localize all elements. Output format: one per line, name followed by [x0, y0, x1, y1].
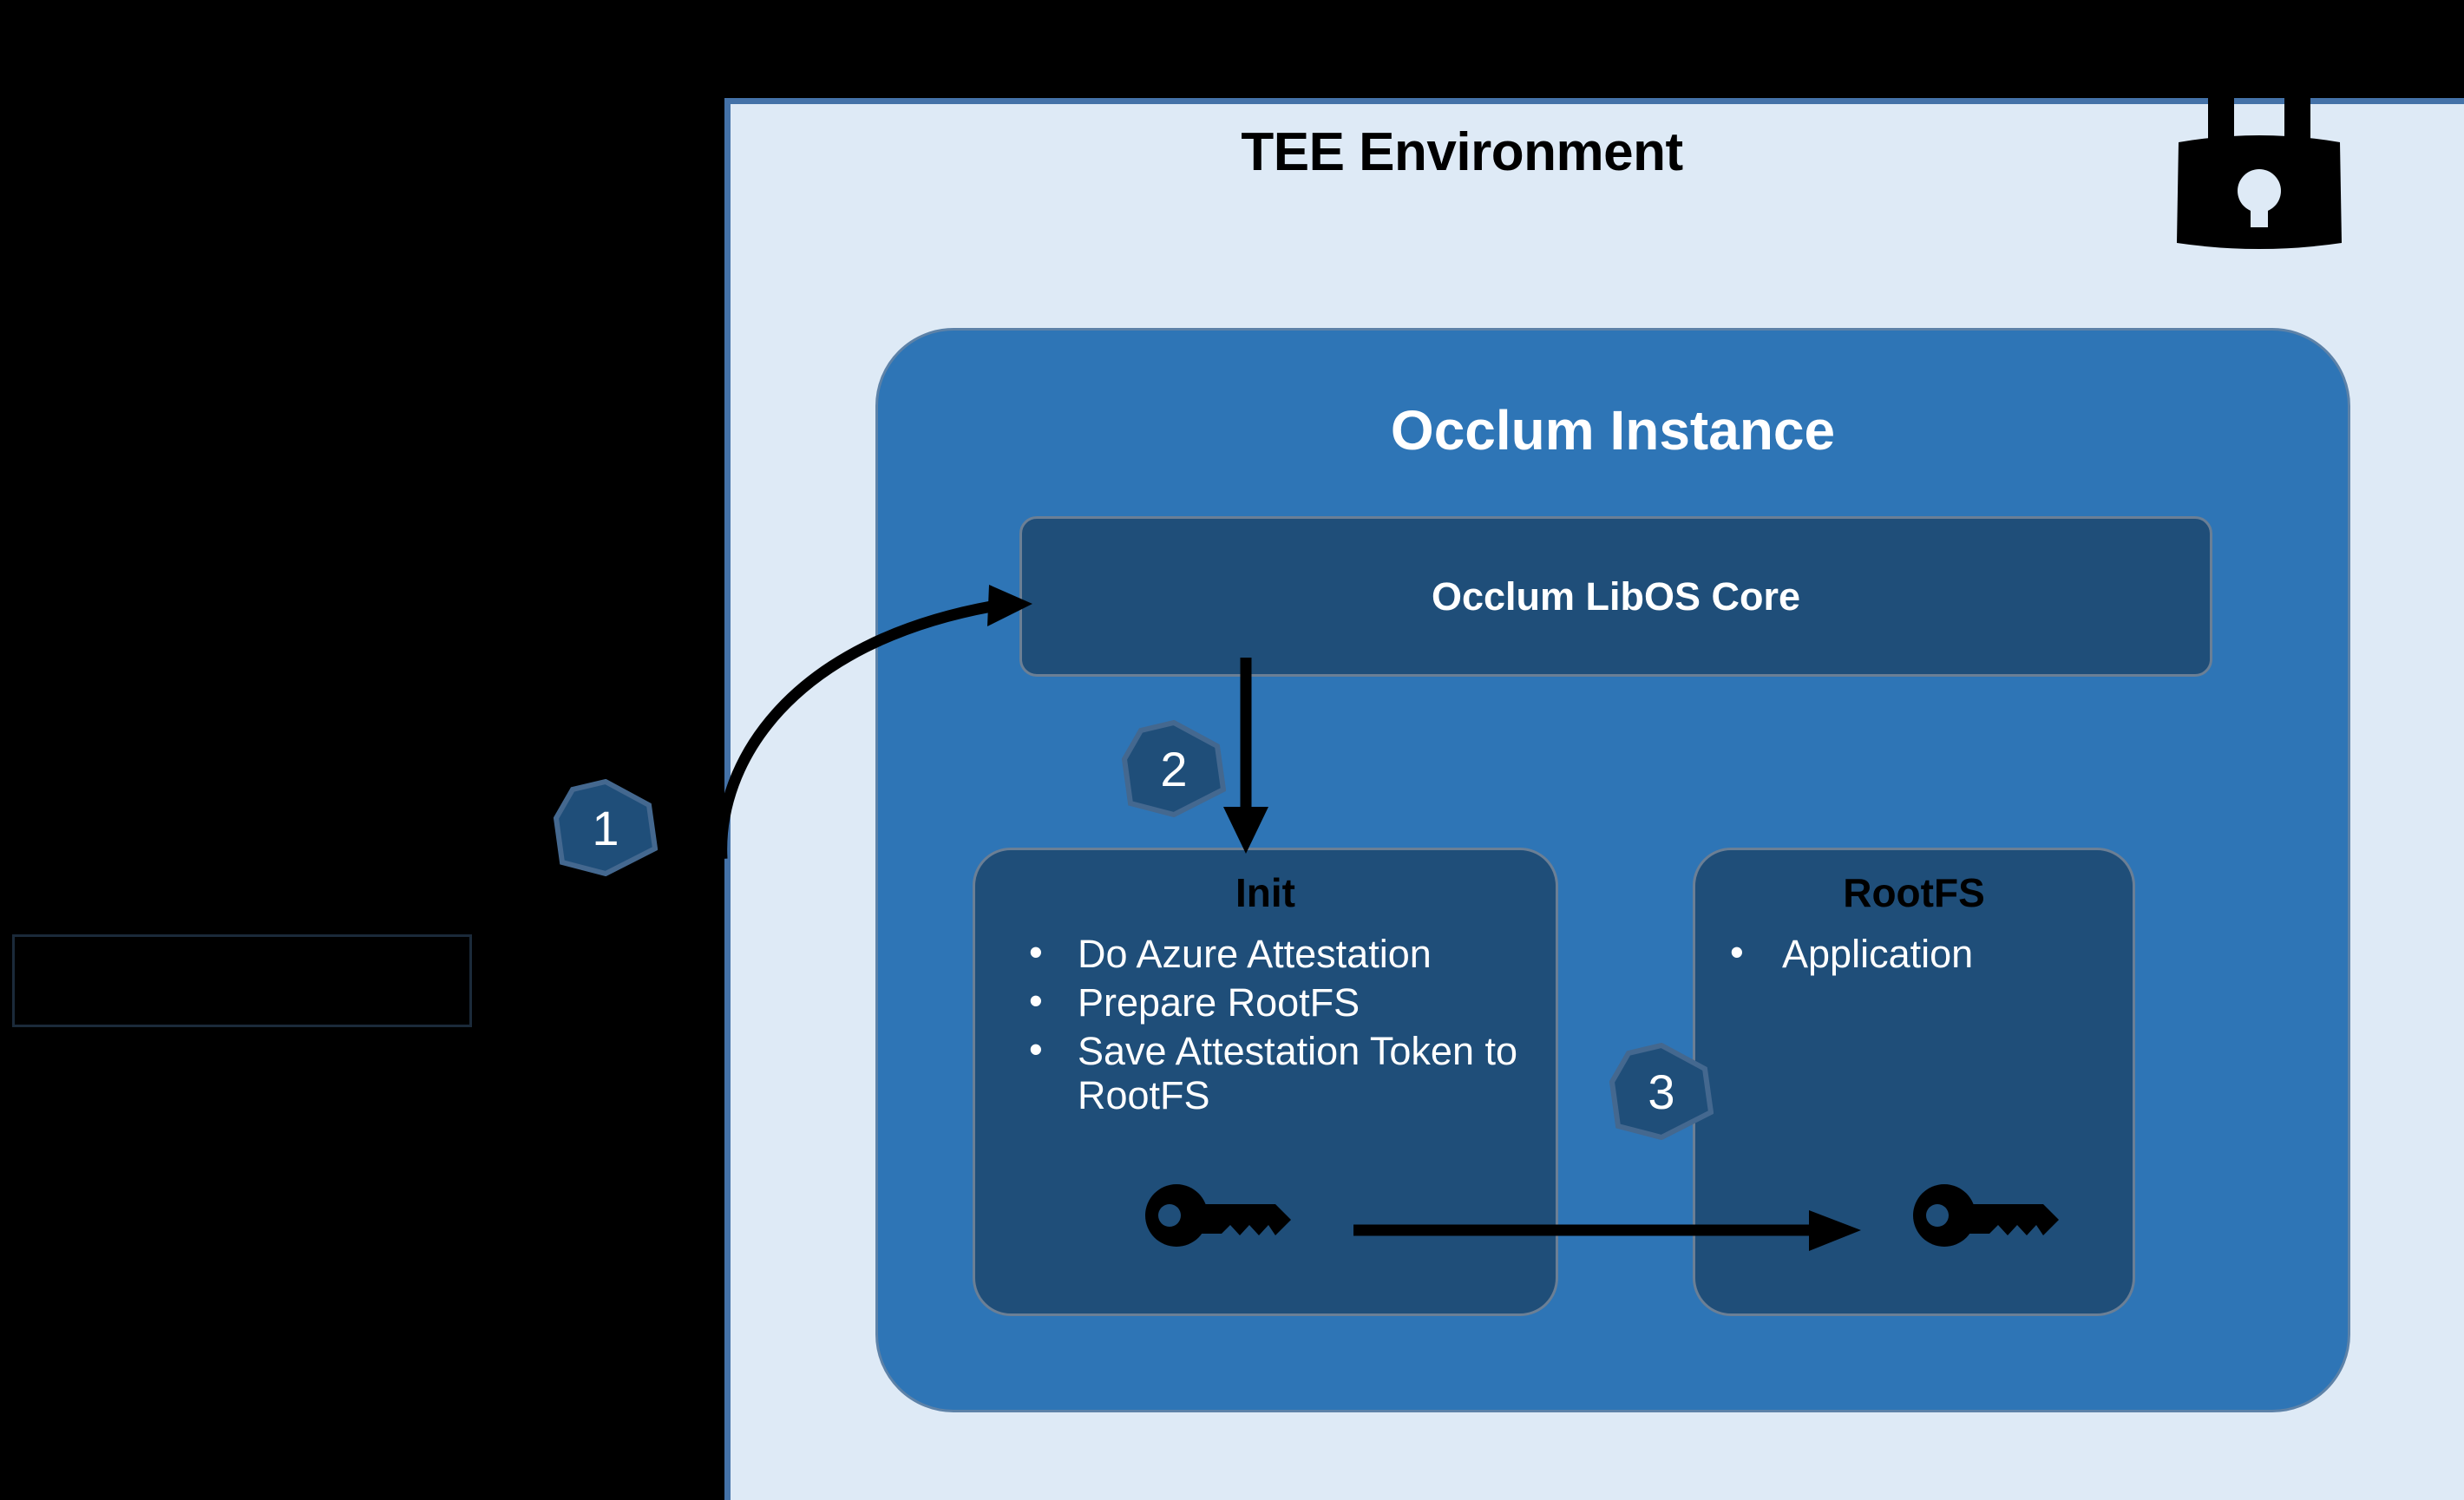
occlum-instance-title: Occlum Instance	[878, 398, 2348, 462]
diagram-canvas: TEE Environment Occlum Instance Occlum L…	[0, 0, 2464, 1500]
step-badge-2: 2	[1122, 720, 1226, 817]
rootfs-panel-title: RootFS	[1695, 869, 2133, 916]
list-item: Prepare RootFS	[975, 980, 1556, 1025]
key-icon	[1913, 1182, 2069, 1249]
occlum-instance-container: Occlum Instance Occlum LibOS Core Init D…	[875, 328, 2350, 1412]
occlum-libos-core-label: Occlum LibOS Core	[1432, 574, 1800, 619]
step-badge-1-number: 1	[554, 779, 658, 876]
init-panel-bullets: Do Azure Attestation Prepare RootFS Save…	[975, 932, 1556, 1118]
init-panel-title: Init	[975, 869, 1556, 916]
empty-outlined-box	[12, 934, 472, 1027]
rootfs-panel-bullets: Application	[1695, 932, 2133, 977]
padlock-icon	[2168, 97, 2350, 253]
key-icon	[1145, 1182, 1301, 1249]
step-badge-1: 1	[554, 779, 658, 876]
step-badge-2-number: 2	[1122, 720, 1226, 817]
list-item: Application	[1695, 932, 2133, 977]
list-item: Do Azure Attestation	[975, 932, 1556, 977]
list-item: Save Attestation Token to RootFS	[975, 1029, 1556, 1119]
step-badge-3: 3	[1609, 1043, 1714, 1140]
tee-environment-title: TEE Environment	[724, 121, 2199, 183]
occlum-libos-core-box: Occlum LibOS Core	[1019, 516, 2212, 677]
step-badge-3-number: 3	[1609, 1043, 1714, 1140]
